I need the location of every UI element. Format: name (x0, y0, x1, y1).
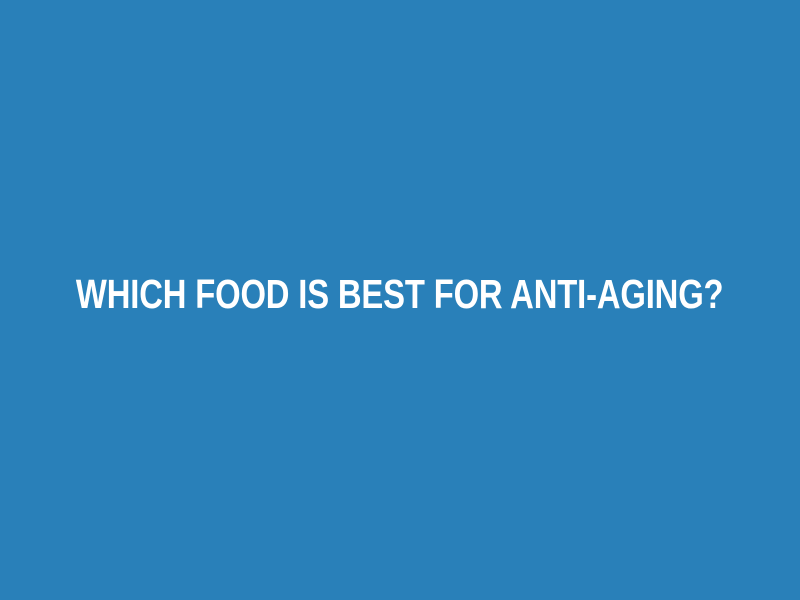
title-card: WHICH FOOD IS BEST FOR ANTI-AGING? (0, 0, 800, 600)
page-title: WHICH FOOD IS BEST FOR ANTI-AGING? (76, 274, 723, 315)
headline-container: WHICH FOOD IS BEST FOR ANTI-AGING? (0, 279, 800, 309)
